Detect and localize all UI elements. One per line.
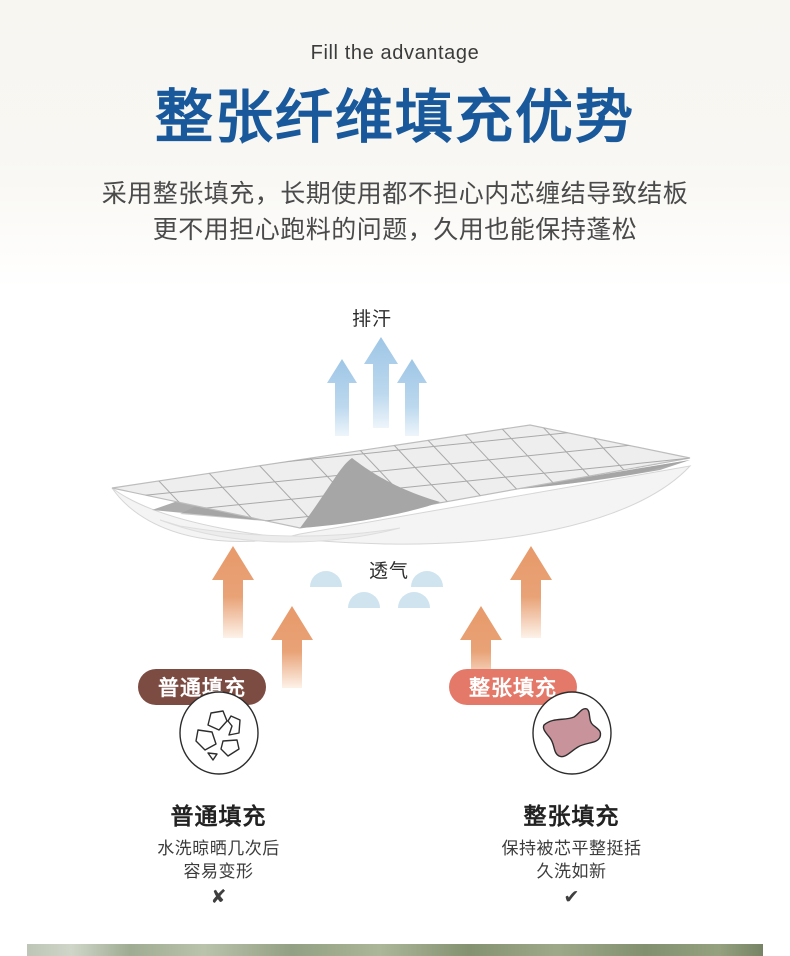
comparison-desc-ordinary-line2: 容易变形 xyxy=(42,860,395,883)
page-title: 整张纤维填充优势 xyxy=(0,86,790,150)
cross-icon: ✘ xyxy=(42,887,395,909)
single-sheet-blob-icon xyxy=(531,690,613,776)
breathe-arrow-outer-left xyxy=(212,546,254,638)
breathe-label: 透气 xyxy=(369,556,409,583)
subcopy-line-1: 采用整张填充，长期使用都不担心内芯缠结导致结板 xyxy=(0,176,790,212)
comparison-column-ordinary: 普通填充 水洗晾晒几次后 容易变形 ✘ xyxy=(42,690,395,920)
bottom-photo-strip xyxy=(27,944,763,956)
comparison-section: 普通填充 水洗晾晒几次后 容易变形 ✘ 整张填充 保持被芯平整挺括 久洗如新 ✔ xyxy=(0,690,790,920)
check-icon: ✔ xyxy=(395,887,748,909)
comparison-title-whole: 整张填充 xyxy=(395,797,748,831)
sweat-arrow-right xyxy=(397,359,427,436)
sweat-arrow-group xyxy=(327,337,427,436)
broken-fragments-icon xyxy=(178,690,260,776)
comparison-desc-whole-line2: 久洗如新 xyxy=(395,860,748,883)
fill-structure-illustration xyxy=(0,288,790,688)
sweat-label: 排汗 xyxy=(352,304,392,331)
comparison-desc-whole-line1: 保持被芯平整挺括 xyxy=(395,837,748,860)
diagram-section: 排汗 透气 普通填充 整张填充 xyxy=(0,288,790,688)
product-detail-page: Fill the advantage 整张纤维填充优势 采用整张填充，长期使用都… xyxy=(0,0,790,956)
subcopy-line-2: 更不用担心跑料的问题，久用也能保持蓬松 xyxy=(0,212,790,248)
header-section: Fill the advantage 整张纤维填充优势 采用整张填充，长期使用都… xyxy=(0,0,790,288)
bubble-3 xyxy=(348,592,380,608)
comparison-desc-whole: 保持被芯平整挺括 久洗如新 xyxy=(395,837,748,883)
comparison-desc-ordinary: 水洗晾晒几次后 容易变形 xyxy=(42,837,395,883)
comparison-desc-ordinary-line1: 水洗晾晒几次后 xyxy=(42,837,395,860)
bubble-2 xyxy=(411,571,443,587)
sweat-arrow-left xyxy=(327,359,357,436)
breathe-arrow-outer-right xyxy=(510,546,552,638)
comparison-column-whole: 整张填充 保持被芯平整挺括 久洗如新 ✔ xyxy=(395,690,748,920)
breathe-arrow-inner-left xyxy=(271,606,313,688)
bubble-1 xyxy=(310,571,342,587)
comparison-title-ordinary: 普通填充 xyxy=(42,797,395,831)
eyebrow-text: Fill the advantage xyxy=(0,42,790,65)
sweat-arrow-center xyxy=(364,337,398,428)
bubble-4 xyxy=(398,592,430,608)
subcopy-block: 采用整张填充，长期使用都不担心内芯缠结导致结板 更不用担心跑料的问题，久用也能保… xyxy=(0,176,790,248)
